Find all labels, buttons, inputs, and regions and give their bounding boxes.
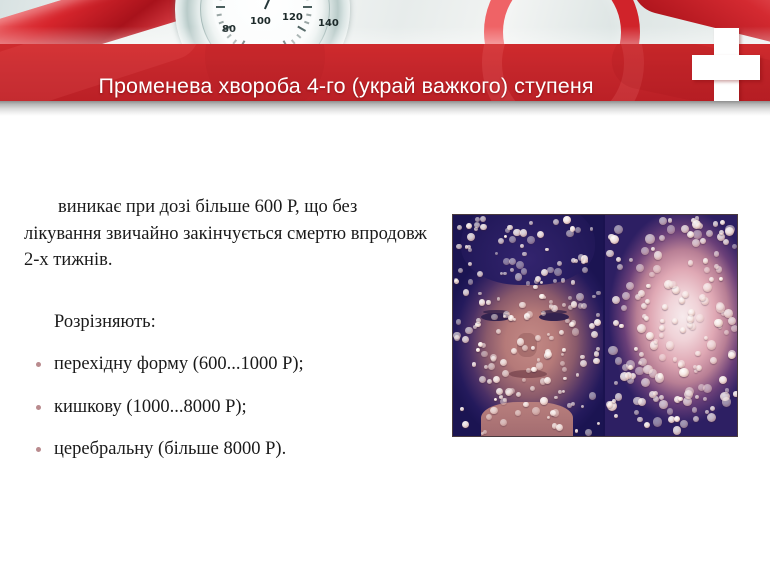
skin-lesion bbox=[578, 303, 583, 308]
skin-lesion bbox=[725, 388, 730, 393]
skin-lesion bbox=[634, 410, 640, 416]
skin-lesion bbox=[476, 318, 481, 323]
skin-lesion bbox=[545, 351, 552, 358]
skin-lesion bbox=[526, 311, 533, 318]
skin-lesion bbox=[558, 390, 562, 394]
skin-lesion bbox=[638, 398, 647, 407]
skin-lesion bbox=[649, 272, 654, 277]
skin-lesion bbox=[668, 218, 672, 222]
skin-lesion bbox=[580, 355, 585, 360]
header-photo-strip: 80 100 120 140 bbox=[0, 0, 770, 44]
skin-lesion bbox=[621, 305, 627, 311]
skin-lesion bbox=[454, 335, 460, 341]
skin-lesion bbox=[645, 234, 655, 244]
skin-lesion bbox=[659, 354, 666, 361]
skin-lesion bbox=[456, 319, 462, 325]
skin-lesion bbox=[728, 350, 737, 359]
skin-lesion bbox=[456, 244, 462, 250]
skin-lesion bbox=[575, 429, 579, 433]
skin-lesion bbox=[728, 317, 736, 325]
skin-lesion bbox=[530, 386, 535, 391]
skin-lesion bbox=[596, 291, 600, 295]
skin-lesion bbox=[554, 268, 562, 276]
skin-lesion bbox=[613, 320, 619, 326]
skin-lesion bbox=[535, 335, 541, 341]
skin-lesion bbox=[706, 230, 713, 237]
skin-lesion bbox=[619, 324, 623, 328]
skin-lesion bbox=[468, 248, 472, 252]
skin-lesion bbox=[615, 357, 623, 365]
skin-lesion bbox=[522, 378, 526, 382]
skin-lesion bbox=[637, 417, 643, 423]
medical-cross-icon bbox=[692, 28, 760, 106]
skin-lesion bbox=[531, 346, 535, 350]
skin-lesion bbox=[687, 322, 693, 328]
skin-lesion bbox=[714, 251, 720, 257]
skin-lesion bbox=[567, 403, 572, 408]
skin-lesion bbox=[563, 216, 571, 224]
skin-lesion bbox=[529, 221, 533, 225]
skin-lesion bbox=[710, 406, 715, 411]
list-item: церебральну (більше 8000 Р). bbox=[24, 437, 436, 462]
skin-lesion bbox=[478, 342, 483, 347]
skin-lesion bbox=[659, 325, 665, 331]
skin-lesion bbox=[490, 354, 497, 361]
skin-lesion bbox=[719, 376, 728, 385]
classification-list: перехідну форму (600...1000 Р); кишкову … bbox=[24, 336, 436, 462]
skin-lesion bbox=[733, 391, 738, 397]
list-item-label: перехідну форму (600...1000 Р); bbox=[54, 354, 304, 374]
skin-lesion bbox=[634, 347, 638, 351]
skin-lesion bbox=[646, 284, 650, 288]
skin-lesion bbox=[480, 224, 487, 231]
skin-lesion bbox=[659, 217, 668, 226]
clinical-photo-skin-lesions bbox=[452, 214, 738, 437]
skin-lesion bbox=[659, 395, 664, 400]
skin-lesion bbox=[667, 408, 673, 414]
skin-lesion bbox=[709, 277, 714, 282]
skin-lesion bbox=[521, 268, 528, 275]
skin-lesion bbox=[614, 381, 618, 385]
skin-lesion bbox=[474, 222, 480, 228]
skin-lesion bbox=[649, 391, 656, 398]
skin-lesion bbox=[692, 239, 701, 248]
skin-lesion bbox=[553, 219, 559, 225]
skin-lesion bbox=[547, 267, 554, 274]
skin-lesion bbox=[636, 264, 644, 272]
skin-lesion bbox=[593, 358, 600, 365]
skin-lesion bbox=[465, 327, 472, 334]
skin-lesion bbox=[654, 251, 663, 260]
skin-lesion bbox=[614, 414, 618, 418]
skin-lesion bbox=[684, 390, 694, 400]
skin-lesion bbox=[580, 360, 587, 367]
skin-lesion bbox=[592, 295, 596, 299]
skin-lesion bbox=[568, 296, 572, 300]
skin-lesion bbox=[659, 235, 665, 241]
skin-lesion bbox=[545, 248, 549, 252]
skin-lesion bbox=[707, 340, 717, 350]
skin-lesion bbox=[660, 319, 665, 324]
skin-lesion bbox=[620, 372, 629, 381]
skin-lesion bbox=[519, 302, 526, 309]
skin-lesion bbox=[576, 373, 579, 376]
skin-lesion bbox=[553, 279, 557, 283]
presentation-slide: 80 100 120 140 Променева хвороба 4-го (у… bbox=[0, 0, 770, 577]
skin-lesion bbox=[673, 426, 681, 434]
skin-lesion bbox=[474, 227, 478, 231]
skin-lesion bbox=[704, 267, 710, 273]
skin-lesion bbox=[484, 365, 488, 369]
skin-lesion bbox=[478, 292, 482, 296]
list-item: кишкову (1000...8000 Р); bbox=[24, 395, 436, 420]
skin-lesion bbox=[680, 420, 688, 428]
skin-lesion bbox=[516, 392, 521, 397]
skin-lesion bbox=[493, 376, 500, 383]
skin-lesion bbox=[561, 353, 564, 356]
skin-lesion bbox=[571, 301, 578, 308]
skin-lesion bbox=[520, 229, 528, 237]
skin-lesion bbox=[688, 260, 694, 266]
skin-lesion bbox=[700, 238, 706, 244]
bullet-dot-icon bbox=[36, 362, 41, 367]
skin-lesion bbox=[496, 329, 502, 335]
skin-lesion bbox=[563, 377, 567, 381]
text-column: виникає при дозі більше 600 Р, що без лі… bbox=[24, 194, 436, 480]
skin-lesion bbox=[500, 359, 507, 366]
skin-lesion bbox=[571, 280, 576, 285]
skin-lesion bbox=[457, 225, 463, 231]
skin-lesion bbox=[635, 294, 641, 300]
skin-lesion bbox=[716, 303, 726, 313]
skin-lesion bbox=[662, 304, 668, 310]
skin-lesion bbox=[562, 348, 566, 352]
skin-lesion bbox=[674, 416, 680, 422]
cross-horizontal-bar bbox=[692, 55, 760, 80]
skin-lesion bbox=[673, 357, 677, 361]
skin-lesion bbox=[594, 351, 600, 357]
skin-lesion bbox=[704, 336, 708, 340]
skin-lesion bbox=[612, 296, 620, 304]
photo-panel-face bbox=[453, 215, 603, 436]
skin-lesion bbox=[596, 313, 600, 317]
skin-lesion bbox=[526, 281, 531, 286]
skin-lesion bbox=[590, 227, 593, 230]
skin-lesion bbox=[479, 299, 485, 305]
skin-lesion bbox=[659, 400, 668, 409]
skin-lesion bbox=[669, 281, 676, 288]
skin-lesion bbox=[731, 325, 738, 332]
skin-lesion bbox=[610, 235, 619, 244]
skin-lesion bbox=[693, 416, 699, 422]
skin-lesion bbox=[569, 322, 574, 327]
skin-lesion bbox=[561, 278, 565, 282]
skin-lesion bbox=[617, 264, 623, 270]
skin-lesion bbox=[687, 231, 694, 238]
skin-lesion bbox=[520, 244, 524, 248]
skin-lesion bbox=[644, 422, 650, 428]
skin-lesion bbox=[533, 285, 537, 289]
skin-lesion bbox=[693, 230, 702, 239]
skin-lesion bbox=[549, 336, 553, 340]
skin-lesion bbox=[572, 328, 580, 336]
skin-lesion bbox=[725, 227, 735, 237]
skin-lesion bbox=[692, 407, 698, 413]
skin-lesion bbox=[539, 294, 545, 300]
skin-lesion bbox=[560, 361, 565, 366]
skin-lesion bbox=[557, 261, 562, 266]
skin-lesion bbox=[723, 239, 729, 245]
skin-lesion bbox=[639, 358, 647, 366]
skin-lesion bbox=[626, 360, 636, 370]
skin-lesion bbox=[488, 363, 495, 370]
skin-lesion bbox=[468, 279, 474, 285]
skin-lesion bbox=[703, 258, 708, 263]
skin-lesion bbox=[491, 314, 498, 321]
skin-lesion bbox=[497, 297, 501, 301]
skin-lesion bbox=[678, 397, 683, 402]
skin-lesion bbox=[724, 330, 729, 335]
skin-lesion bbox=[666, 341, 675, 350]
skin-lesion bbox=[606, 250, 614, 258]
skin-lesion bbox=[515, 410, 521, 416]
skin-lesion bbox=[554, 396, 557, 399]
skin-lesion bbox=[653, 265, 662, 274]
list-item-label: церебральну (більше 8000 Р). bbox=[54, 439, 286, 459]
skin-lesion bbox=[616, 257, 621, 262]
skin-lesion bbox=[659, 333, 664, 338]
header-divider-shadow bbox=[0, 101, 770, 116]
skin-lesion bbox=[498, 238, 504, 244]
skin-lesion bbox=[565, 319, 570, 324]
skin-lesion bbox=[637, 324, 646, 333]
skin-lesion bbox=[703, 397, 707, 401]
skin-lesion bbox=[522, 252, 527, 257]
skin-lesion bbox=[641, 378, 650, 387]
skin-lesion bbox=[540, 397, 548, 405]
skin-lesion bbox=[463, 289, 469, 295]
skin-lesion bbox=[562, 303, 566, 307]
skin-lesion bbox=[562, 367, 567, 372]
slide-content: виникає при дозі більше 600 Р, що без лі… bbox=[0, 116, 770, 577]
skin-lesion bbox=[511, 348, 518, 355]
skin-lesion bbox=[655, 373, 665, 383]
skin-lesion bbox=[720, 220, 725, 225]
skin-lesion bbox=[549, 300, 553, 304]
skin-lesion bbox=[622, 292, 630, 300]
skin-lesion bbox=[556, 424, 563, 431]
skin-lesion bbox=[591, 331, 598, 338]
skin-lesion bbox=[487, 379, 492, 384]
intro-paragraph: виникає при дозі більше 600 Р, що без лі… bbox=[24, 194, 436, 274]
skin-lesion bbox=[654, 339, 658, 343]
skin-lesion bbox=[496, 388, 503, 395]
skin-lesion bbox=[714, 264, 719, 269]
skin-lesion bbox=[462, 336, 469, 343]
skin-lesion bbox=[515, 273, 522, 280]
skin-lesion bbox=[695, 351, 701, 357]
skin-lesion bbox=[486, 300, 491, 305]
skin-lesion bbox=[559, 330, 564, 335]
skin-lesion bbox=[460, 407, 464, 411]
skin-lesion bbox=[695, 395, 699, 399]
skin-lesion bbox=[667, 225, 675, 233]
skin-lesion bbox=[486, 414, 492, 420]
skin-lesion bbox=[732, 244, 737, 249]
skin-lesion bbox=[476, 348, 480, 352]
skin-lesion bbox=[672, 318, 678, 324]
skin-lesion bbox=[576, 293, 584, 301]
slide-header: 80 100 120 140 Променева хвороба 4-го (у… bbox=[0, 0, 770, 116]
skin-lesion bbox=[679, 368, 688, 377]
subheading: Розрізняють: bbox=[24, 274, 436, 336]
skin-lesion bbox=[494, 398, 497, 401]
skin-lesion bbox=[646, 332, 655, 341]
skin-lesion bbox=[541, 311, 546, 316]
skin-lesion bbox=[578, 254, 584, 260]
skin-lesion bbox=[703, 283, 712, 292]
skin-lesion bbox=[682, 291, 689, 298]
bullet-dot-icon bbox=[36, 447, 41, 452]
skin-lesion bbox=[513, 318, 516, 321]
skin-lesion bbox=[651, 247, 655, 251]
skin-lesion bbox=[614, 225, 623, 234]
skin-lesion bbox=[523, 402, 529, 408]
skin-lesion bbox=[596, 347, 600, 351]
skin-lesion bbox=[696, 314, 704, 322]
skin-lesion bbox=[571, 402, 575, 406]
skin-lesion bbox=[722, 397, 732, 407]
bullet-dot-icon bbox=[36, 405, 41, 410]
skin-lesion bbox=[506, 390, 511, 395]
photo-panel-torso bbox=[605, 215, 738, 436]
list-item: перехідну форму (600...1000 Р); bbox=[24, 352, 436, 377]
skin-lesion bbox=[544, 377, 551, 384]
skin-lesion bbox=[645, 299, 650, 304]
skin-lesion bbox=[639, 352, 644, 357]
skin-lesion bbox=[585, 429, 592, 436]
skin-lesion bbox=[458, 268, 463, 273]
skin-lesion bbox=[500, 272, 503, 275]
skin-lesion bbox=[589, 392, 597, 400]
skin-lesion bbox=[472, 362, 477, 367]
skin-lesion bbox=[644, 316, 649, 321]
skin-lesion bbox=[641, 247, 649, 255]
skin-lesion bbox=[629, 258, 633, 262]
skin-lesion bbox=[710, 357, 717, 364]
skin-lesion bbox=[678, 362, 684, 368]
skin-lesion bbox=[473, 325, 477, 329]
skin-lesion bbox=[713, 221, 719, 227]
skin-lesion bbox=[552, 409, 559, 416]
skin-lesion bbox=[479, 376, 486, 383]
skin-lesion bbox=[653, 417, 662, 426]
skin-lesion bbox=[597, 422, 600, 425]
skin-lesion bbox=[500, 419, 507, 426]
skin-lesion bbox=[481, 351, 488, 358]
skin-lesion bbox=[454, 278, 458, 282]
skin-lesion bbox=[594, 319, 601, 326]
skin-lesion bbox=[582, 267, 588, 273]
skin-lesion bbox=[532, 407, 540, 415]
strip-fade-overlay bbox=[0, 0, 770, 44]
skin-lesion bbox=[680, 327, 686, 333]
skin-lesion bbox=[608, 346, 618, 356]
skin-lesion bbox=[562, 390, 566, 394]
list-item-label: кишкову (1000...8000 Р); bbox=[54, 397, 247, 417]
skin-lesion bbox=[581, 405, 584, 408]
skin-lesion bbox=[635, 367, 643, 375]
skin-lesion bbox=[707, 413, 716, 422]
skin-lesion bbox=[490, 407, 498, 415]
skin-lesion bbox=[612, 399, 616, 403]
skin-lesion bbox=[719, 277, 723, 281]
skin-lesion bbox=[462, 421, 469, 428]
skin-lesion bbox=[502, 370, 510, 378]
skin-lesion bbox=[626, 282, 634, 290]
skin-lesion bbox=[537, 358, 541, 362]
